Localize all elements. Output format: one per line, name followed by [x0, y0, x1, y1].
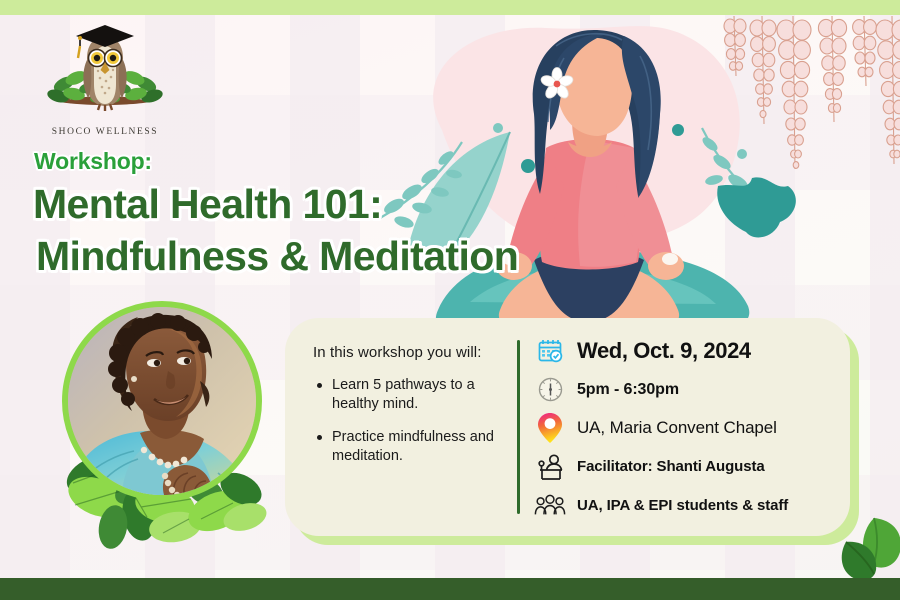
calendar-check-icon: [534, 335, 566, 367]
detail-text-location: UA, Maria Convent Chapel: [577, 418, 777, 438]
wisteria-strands-decor: [718, 14, 900, 186]
brand-logo: SHOCO WELLNESS: [42, 22, 168, 140]
detail-row-time: 5pm - 6:30pm: [534, 371, 840, 409]
info-card-left-column: In this workshop you will: Learn 5 pathw…: [285, 318, 517, 536]
info-card-right-column: Wed, Oct. 9, 2024 5pm - 6:30p: [520, 318, 850, 536]
location-pin-icon: [534, 412, 566, 444]
page-title: Mental Health 101: Mindfulness & Meditat…: [33, 178, 518, 282]
detail-text-time: 5pm - 6:30pm: [577, 381, 679, 399]
top-accent-bar: [0, 0, 900, 15]
detail-text-facilitator: Facilitator: Shanti Augusta: [577, 458, 765, 475]
facilitator-portrait-block: [57, 298, 272, 548]
lectern-speaker-icon: [534, 451, 566, 483]
benefits-list: Learn 5 pathways to a healthy mind. Prac…: [313, 376, 503, 466]
poster-canvas: SHOCO WELLNESS Workshop: Mental Health 1…: [0, 0, 900, 600]
detail-text-audience: UA, IPA & EPI students & staff: [577, 497, 788, 514]
detail-row-facilitator: Facilitator: Shanti Augusta: [534, 448, 840, 486]
owl-graduate-icon: [42, 22, 168, 126]
people-group-icon: [534, 489, 566, 521]
list-item: Practice mindfulness and meditation.: [313, 428, 503, 466]
info-card: In this workshop you will: Learn 5 pathw…: [285, 318, 850, 536]
detail-text-date: Wed, Oct. 9, 2024: [577, 338, 751, 364]
facilitator-portrait-photo: [62, 301, 262, 501]
detail-row-audience: UA, IPA & EPI students & staff: [534, 486, 840, 524]
detail-row-date: Wed, Oct. 9, 2024: [534, 332, 840, 370]
workshop-kicker: Workshop:: [34, 148, 152, 175]
card-heading: In this workshop you will:: [313, 344, 503, 361]
title-line-1: Mental Health 101:: [33, 178, 518, 230]
clock-icon: [534, 374, 566, 406]
brand-name: SHOCO WELLNESS: [42, 127, 168, 137]
title-line-2: Mindfulness & Meditation: [36, 230, 518, 282]
bottom-accent-bar: [0, 578, 900, 600]
detail-row-location: UA, Maria Convent Chapel: [534, 409, 840, 447]
list-item: Learn 5 pathways to a healthy mind.: [313, 376, 503, 414]
